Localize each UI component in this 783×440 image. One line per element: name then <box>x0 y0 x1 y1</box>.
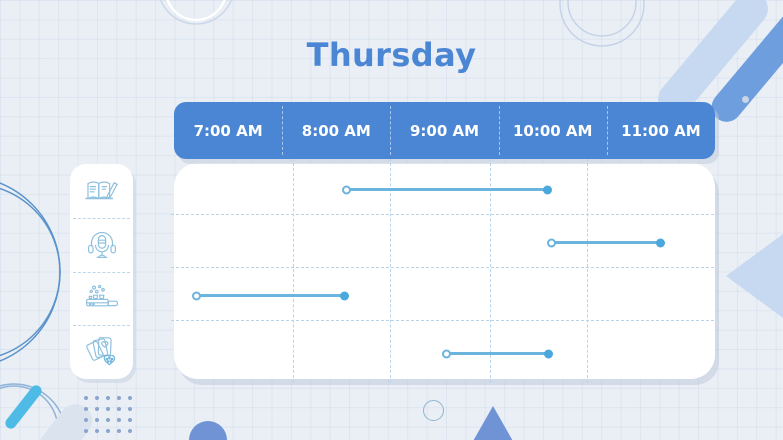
category-icon-rail <box>70 164 133 379</box>
timeline-event-bar[interactable] <box>346 188 547 191</box>
rail-item-cooking[interactable] <box>70 272 133 326</box>
event-start-handle[interactable] <box>192 291 201 300</box>
timeline-event-bar[interactable] <box>446 352 548 355</box>
rail-item-podcast[interactable] <box>70 218 133 272</box>
event-start-handle[interactable] <box>342 185 351 194</box>
playing-cards-hearts-icon <box>85 336 119 368</box>
event-start-handle[interactable] <box>442 349 451 358</box>
event-end-handle[interactable] <box>340 291 349 300</box>
event-end-handle[interactable] <box>656 238 665 247</box>
podcast-microphone-headphones-icon <box>86 229 118 261</box>
rail-item-cards[interactable] <box>70 325 133 379</box>
slide-canvas: Thursday 7:00 AM 8:00 AM 9:00 AM 10:00 A… <box>0 0 783 440</box>
event-end-handle[interactable] <box>544 349 553 358</box>
notebook-pencil-icon <box>85 176 119 206</box>
event-start-handle[interactable] <box>547 238 556 247</box>
timeline-event-bar[interactable] <box>196 294 344 297</box>
cooking-stove-icon <box>84 284 120 312</box>
timeline-event-bar[interactable] <box>551 241 660 244</box>
event-end-handle[interactable] <box>543 185 552 194</box>
rail-item-notebook[interactable] <box>70 164 133 218</box>
